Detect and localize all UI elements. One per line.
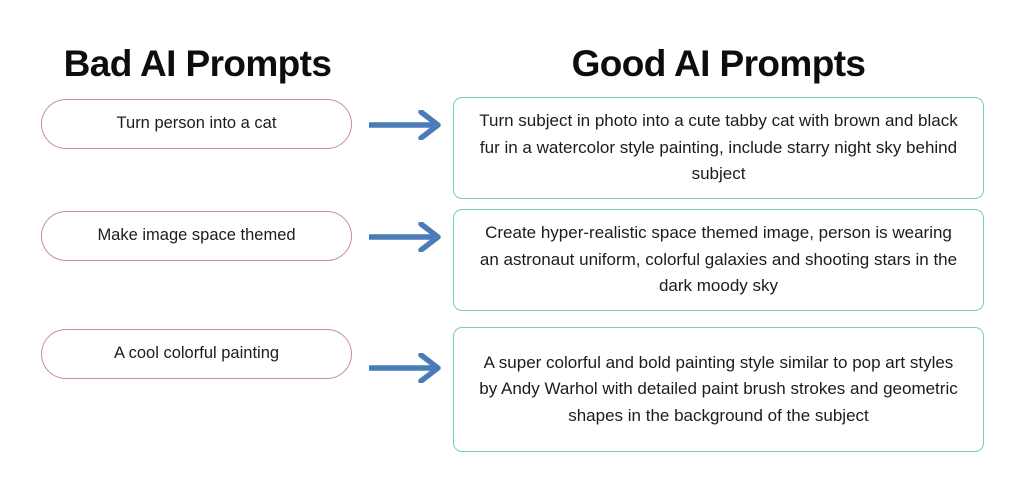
good-prompts-heading: Good AI Prompts [453,45,984,82]
bad-prompt-text: A cool colorful painting [114,344,279,364]
bad-prompt-text: Make image space themed [97,226,295,246]
good-prompt-text: Create hyper-realistic space themed imag… [476,220,961,299]
good-prompt-card: Turn subject in photo into a cute tabby … [453,97,984,199]
good-prompt-card: Create hyper-realistic space themed imag… [453,209,984,311]
bad-prompt-text: Turn person into a cat [117,114,277,134]
bad-prompt-pill: Make image space themed [41,211,352,261]
comparison-row: A cool colorful painting A super colorfu… [0,327,1024,454]
good-prompt-text: A super colorful and bold painting style… [476,350,961,429]
comparison-row: Turn person into a cat Turn subject in p… [0,97,1024,201]
bad-prompt-pill: Turn person into a cat [41,99,352,149]
arrow-right-icon [369,222,445,252]
bad-prompts-heading: Bad AI Prompts [0,45,395,82]
arrow-right-icon [369,110,445,140]
good-prompt-text: Turn subject in photo into a cute tabby … [476,108,961,187]
bad-prompt-pill: A cool colorful painting [41,329,352,379]
comparison-row: Make image space themed Create hyper-rea… [0,209,1024,313]
prompt-comparison-diagram: Bad AI Prompts Good AI Prompts Turn pers… [0,0,1024,486]
good-prompt-card: A super colorful and bold painting style… [453,327,984,452]
arrow-right-icon [369,353,445,383]
